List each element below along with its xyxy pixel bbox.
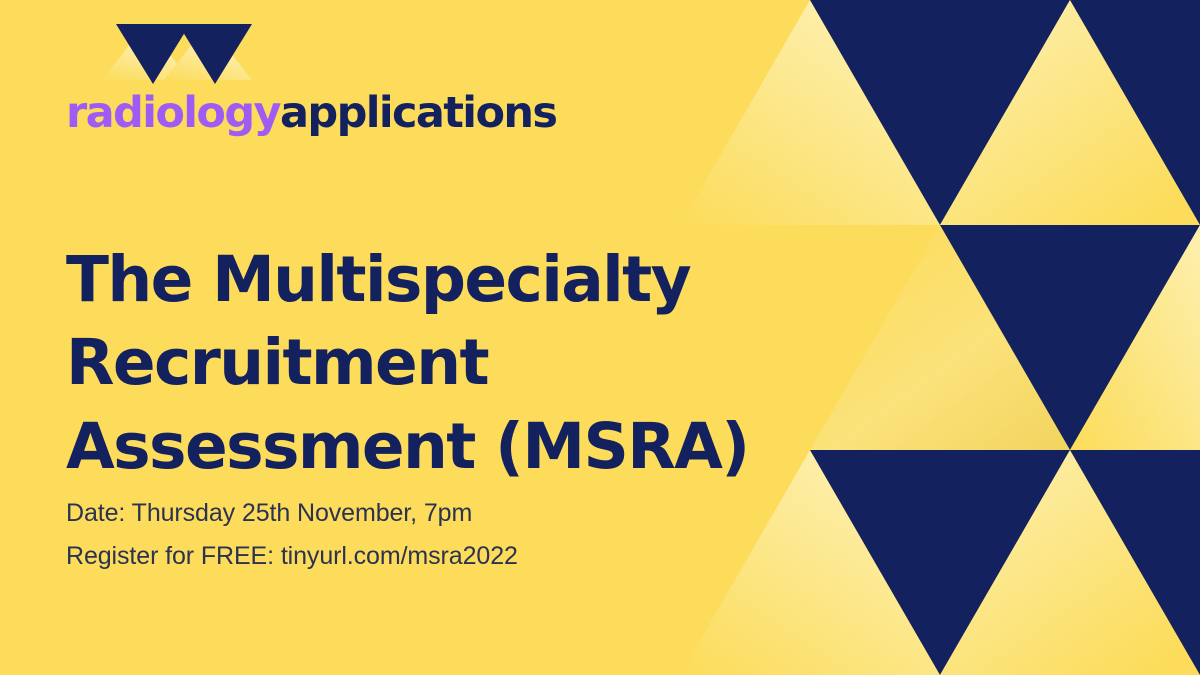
title-line-2: Recruitment <box>66 321 856 404</box>
event-register-line: Register for FREE: tinyurl.com/msra2022 <box>66 535 518 578</box>
double-triangle-logo-mark-icon <box>102 24 292 86</box>
logo-word-radiology: radiology <box>66 88 280 138</box>
logo-word-applications: applications <box>280 88 556 138</box>
event-details: Date: Thursday 25th November, 7pm Regist… <box>66 492 518 578</box>
brand-logo: radiologyapplications <box>66 24 586 135</box>
title-line-3: Assessment (MSRA) <box>66 405 856 488</box>
title-line-1: The Multispecialty <box>66 238 856 321</box>
event-promo-poster: radiologyapplications The Multispecialty… <box>0 0 1200 675</box>
event-date-line: Date: Thursday 25th November, 7pm <box>66 492 518 535</box>
logo-wordmark: radiologyapplications <box>66 92 586 135</box>
poster-title: The Multispecialty Recruitment Assessmen… <box>66 238 856 487</box>
